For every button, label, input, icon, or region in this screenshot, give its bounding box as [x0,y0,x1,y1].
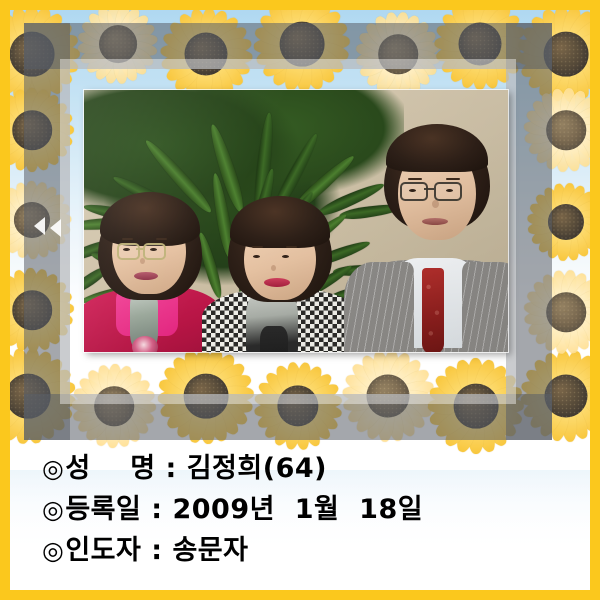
family-photo [84,90,508,352]
sunflower [516,346,590,446]
sunflower-center [367,375,410,418]
sunflower-center [280,22,325,67]
memorial-photo-card: ◎ 성 명 : 김정희(64) ◎ 등록일 : 2009년 1월 18일 ◎ 인… [0,0,600,600]
caption-separator-registration-date: : [141,489,172,530]
sunflower-center [14,202,50,238]
bullet-icon: ◎ [42,489,64,530]
sunflower-center [12,110,52,150]
sunflower-center [454,384,499,429]
sunflower-center [545,375,588,418]
caption-label-referrer: 인도자 [65,530,141,571]
caption-block: ◎ 성 명 : 김정희(64) ◎ 등록일 : 2009년 1월 18일 ◎ 인… [10,440,590,590]
sunflower-center [546,110,586,150]
sunflower-center [185,33,228,76]
caption-separator-referrer: : [141,530,172,571]
sunflower [154,344,258,448]
caption-line-name: ◎ 성 명 : 김정희(64) [42,448,590,489]
sunflower-center [99,25,137,63]
sunflower-center [184,374,229,419]
sunflower-center [10,32,54,77]
bullet-icon: ◎ [42,530,64,571]
caption-separator-name: : [156,448,187,489]
sunflower [352,10,444,100]
sunflower [338,346,438,446]
caption-label-registration-date: 등록일 [65,489,141,530]
sunflower-center [544,32,589,77]
sunflower-center [548,204,584,240]
photo-scene [84,90,508,352]
sunflower-center [10,374,50,419]
bullet-icon: ◎ [42,448,64,489]
sunflower [68,360,160,452]
sunflower-center [94,386,134,426]
caption-value-name: 김정희(64) [187,448,327,489]
caption-label-name: 성 명 [65,448,155,489]
sunflower-center [546,292,586,332]
sunflower-center [12,290,52,330]
caption-value-referrer: 송문자 [172,530,248,571]
caption-line-referrer: ◎ 인도자 : 송문자 [42,530,590,571]
caption-line-registration-date: ◎ 등록일 : 2009년 1월 18일 [42,489,590,530]
caption-value-registration-date: 2009년 1월 18일 [172,489,423,530]
sunflower-center [459,23,502,66]
sunflower-center [378,34,418,74]
